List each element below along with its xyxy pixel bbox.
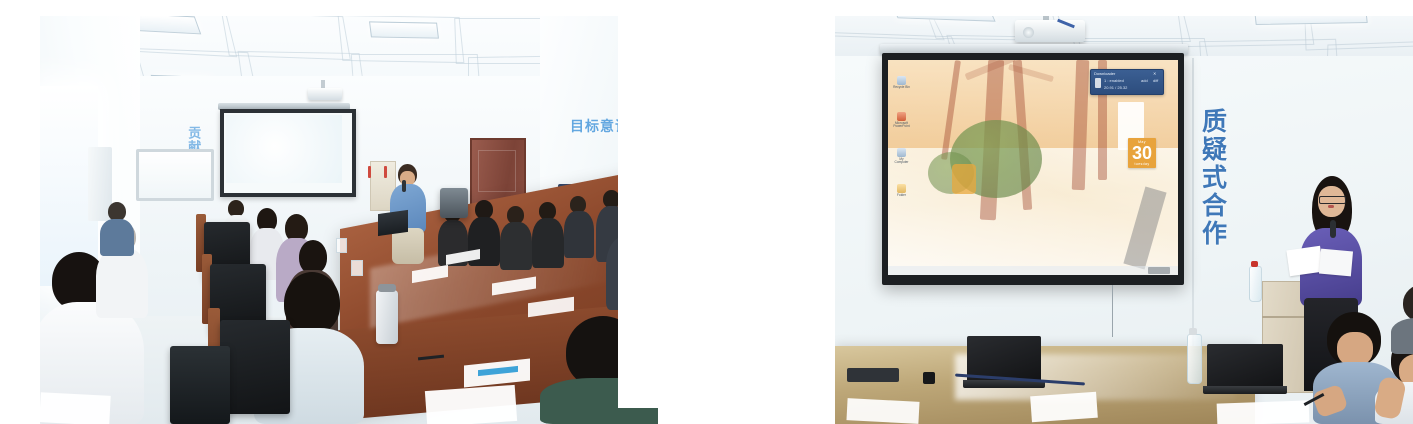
taskbar-system-tray[interactable] [1148, 267, 1170, 274]
lips [1328, 205, 1334, 208]
water-glass-2 [351, 260, 363, 276]
dialog-line-1: 1 : enabled [1104, 78, 1124, 83]
laptop-left [378, 210, 408, 236]
red-cup-1 [368, 166, 371, 178]
presenter-notes-left-page [1286, 246, 1323, 276]
papers-table-left-corner [846, 398, 919, 424]
badge-weekday: tuesday [1134, 162, 1149, 166]
table-device-box [847, 368, 899, 382]
attendee-right-row-5 [564, 196, 594, 258]
screen-pull-cord[interactable] [1112, 285, 1113, 337]
microphone-left [402, 180, 406, 192]
attendee-right-row-3 [500, 206, 532, 270]
leather-chair-4 [170, 346, 230, 424]
papers-foreground-right [1217, 400, 1310, 424]
desktop-icon-powerpoint[interactable]: Microsoft PowerPoint [897, 112, 911, 129]
dialog-button-add[interactable]: add [1141, 78, 1148, 83]
laptop-right-1 [963, 336, 1045, 394]
desktop-icon-folder[interactable]: Folder [897, 184, 911, 197]
attendee-left-back [100, 202, 134, 256]
dialog-thumbnail [1095, 78, 1101, 88]
figure-on-wallpaper [952, 164, 976, 194]
badge-number: 30 [1132, 144, 1152, 162]
photo-gutter [618, 0, 795, 408]
bottle-cap-cabinet [1251, 261, 1258, 267]
desktop-icon-recycle-bin[interactable]: Recycle Bin [897, 76, 911, 89]
photo-right-presenter[interactable]: ■ Recycle Bin Microsoft PowerPoint [835, 16, 1413, 424]
dialog-button-diff[interactable]: diff [1153, 78, 1158, 83]
dialog-line-2: 20.91 / 25.32 [1104, 85, 1127, 90]
water-bottle-cabinet [1249, 266, 1262, 302]
chair-back-row [440, 188, 468, 218]
laptop-right-2 [1203, 344, 1287, 400]
open-notebook-foreground [425, 385, 517, 424]
water-glass-1 [336, 238, 347, 253]
dialog-title: Downloader [1094, 71, 1115, 76]
door-panel-left [478, 150, 516, 192]
downloader-dialog-window[interactable]: Downloader 1 : enabled 20.91 / 25.32 add… [1090, 69, 1164, 95]
notes-foreground-left [40, 392, 111, 424]
date-badge-30: May 30 tuesday [1128, 138, 1156, 168]
projector-lens-right [1023, 27, 1034, 38]
projection-screen-glow-left [226, 115, 342, 183]
flask-cap-left [378, 284, 396, 292]
bottle-cap-table [1189, 328, 1197, 335]
wallpaper-path [1123, 187, 1166, 270]
attendee-background-right-3 [1391, 284, 1413, 354]
photo-left-classroom[interactable]: 贡献 质疑式合作 目标意识 问题 专业意 [40, 16, 658, 424]
leather-chair-3 [220, 320, 290, 414]
vacuum-flask-left [376, 290, 398, 344]
eyeglasses-icon [1319, 196, 1346, 204]
papers-on-table-right [1030, 392, 1098, 423]
attendee-right-row-4 [532, 202, 564, 268]
presenter-notes-right-page [1319, 249, 1353, 277]
windows-taskbar[interactable] [888, 266, 1178, 275]
whiteboard-left [136, 149, 214, 201]
ceiling-projector-left [308, 88, 342, 100]
desktop-icon-my-computer[interactable]: My Computer [897, 148, 911, 165]
microphone-right [1330, 220, 1336, 238]
dialog-close-icon[interactable]: ✕ [1153, 71, 1156, 76]
water-bottle-table [1187, 334, 1202, 384]
photo-composite: 贡献 质疑式合作 目标意识 问题 专业意 [0, 0, 1413, 408]
computer-mouse [923, 372, 935, 384]
wall-slogan-questioning-right: 质疑式合作 [1200, 108, 1226, 248]
projection-screen-right[interactable]: Recycle Bin Microsoft PowerPoint My Comp… [888, 60, 1178, 275]
red-cup-2 [384, 166, 387, 178]
